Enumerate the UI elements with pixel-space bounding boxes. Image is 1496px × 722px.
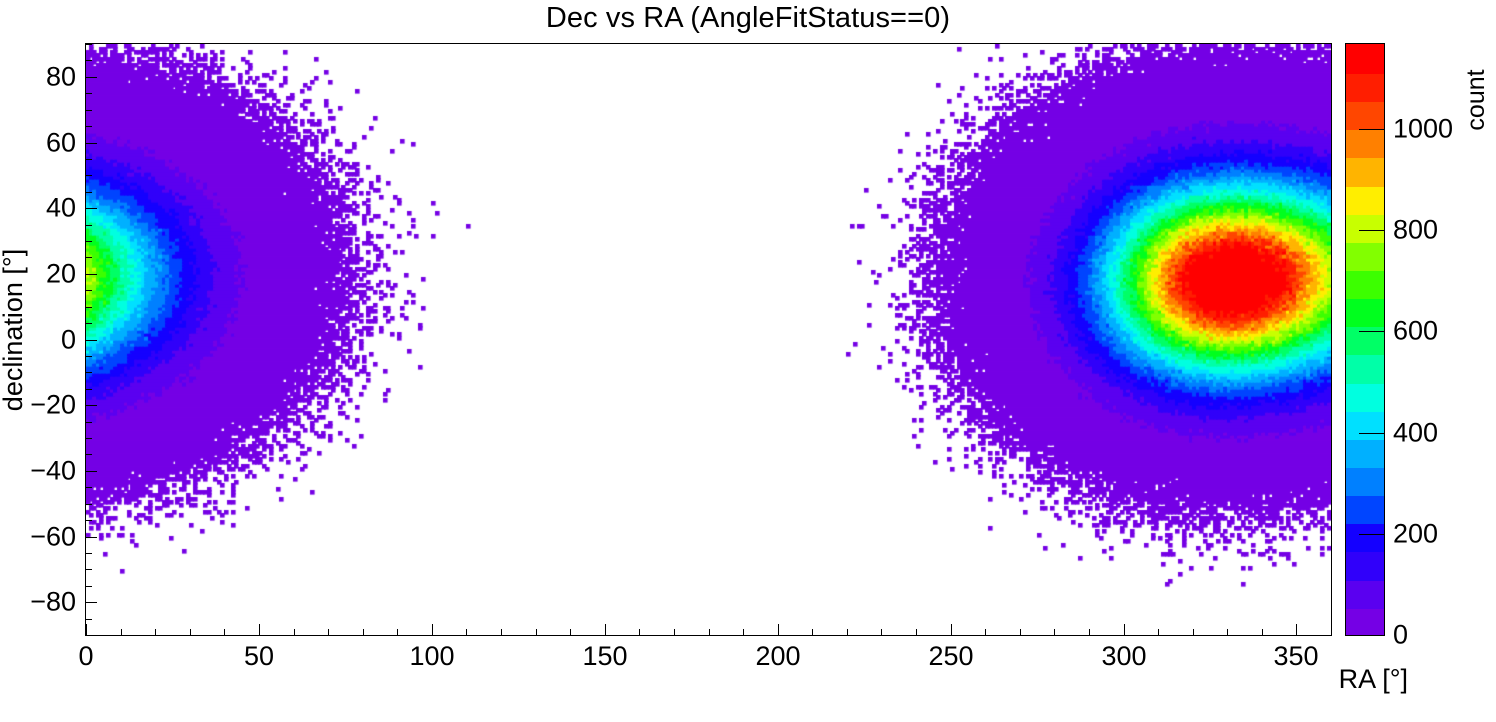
x-tick-major [605,624,606,635]
y-tick-major [86,340,97,341]
x-tick-minor [881,629,882,635]
x-tick-label: 250 [928,641,973,672]
heatmap-canvas [86,44,1331,635]
y-tick-label: −80 [0,587,76,618]
y-tick-minor [86,257,92,258]
color-scale-band [1346,269,1384,299]
x-tick-major [86,624,87,635]
color-scale-band [1346,325,1384,355]
color-scale-band [1346,185,1384,215]
y-tick-minor [86,569,92,570]
x-tick-minor [328,629,329,635]
x-tick-major [778,624,779,635]
color-scale-tick [1359,129,1385,130]
y-tick-minor [86,192,92,193]
y-tick-minor [86,159,92,160]
y-tick-minor [86,323,92,324]
x-tick-major [432,624,433,635]
x-tick-minor [536,629,537,635]
x-tick-minor [1054,629,1055,635]
x-tick-minor [570,629,571,635]
x-tick-minor [224,629,225,635]
y-tick-label: 80 [0,62,76,93]
y-tick-minor [86,553,92,554]
y-tick-minor [86,356,92,357]
x-tick-minor [1227,629,1228,635]
y-tick-minor [86,110,92,111]
root-canvas: Dec vs RA (AngleFitStatus==0) 0501001502… [0,0,1496,722]
y-tick-minor [86,389,92,390]
x-tick-minor [639,629,640,635]
x-tick-minor [1193,629,1194,635]
y-tick-minor [86,241,92,242]
x-tick-label: 200 [755,641,800,672]
color-scale-band [1346,579,1384,609]
x-tick-label: 350 [1273,641,1318,672]
color-scale-bar [1345,43,1385,636]
x-tick-minor [397,629,398,635]
y-axis-title: declination [°] [0,249,29,411]
y-tick-major [86,143,97,144]
x-tick-minor [1262,629,1263,635]
color-scale-band [1346,522,1384,552]
x-tick-minor [812,629,813,635]
y-tick-minor [86,586,92,587]
color-scale-band [1346,213,1384,243]
x-tick-minor [743,629,744,635]
color-scale-band [1346,494,1384,524]
y-tick-minor [86,372,92,373]
x-tick-minor [916,629,917,635]
y-tick-minor [86,422,92,423]
color-scale-label: 1000 [1393,114,1453,145]
x-tick-major [951,624,952,635]
x-tick-minor [501,629,502,635]
y-tick-label: 40 [0,193,76,224]
y-tick-minor [86,126,92,127]
color-scale-label: 600 [1393,316,1438,347]
y-tick-minor [86,520,92,521]
x-tick-minor [121,629,122,635]
x-tick-label: 50 [244,641,274,672]
color-scale-label: 0 [1393,620,1408,651]
y-tick-minor [86,225,92,226]
color-scale-tick [1359,331,1385,332]
x-tick-label: 0 [78,641,93,672]
x-tick-label: 100 [409,641,454,672]
color-scale-band [1346,551,1384,581]
color-scale-label: 800 [1393,215,1438,246]
color-scale-band [1346,607,1384,636]
y-tick-minor [86,504,92,505]
color-scale-band [1346,241,1384,271]
color-scale-tick [1359,635,1385,636]
x-tick-minor [294,629,295,635]
y-tick-minor [86,44,92,45]
y-tick-major [86,471,97,472]
x-tick-major [259,624,260,635]
plot-frame [85,43,1332,636]
color-scale-tick [1359,230,1385,231]
x-tick-minor [155,629,156,635]
y-tick-minor [86,487,92,488]
color-scale-label: 400 [1393,418,1438,449]
color-scale-band [1346,438,1384,468]
y-tick-major [86,602,97,603]
color-scale-band [1346,466,1384,496]
y-tick-major [86,274,97,275]
x-tick-minor [847,629,848,635]
x-tick-label: 150 [582,641,627,672]
y-tick-minor [86,619,92,620]
x-tick-minor [1158,629,1159,635]
color-scale-band [1346,100,1384,130]
y-tick-minor [86,438,92,439]
color-scale-band [1346,410,1384,440]
y-tick-minor [86,60,92,61]
y-tick-minor [86,454,92,455]
y-tick-major [86,405,97,406]
x-tick-minor [985,629,986,635]
color-scale-title: count [1462,69,1491,130]
color-scale-tick [1359,534,1385,535]
page-title: Dec vs RA (AngleFitStatus==0) [0,2,1496,35]
color-scale-band [1346,157,1384,187]
y-tick-minor [86,290,92,291]
color-scale-band [1346,44,1384,74]
y-tick-major [86,208,97,209]
x-tick-minor [709,629,710,635]
x-tick-minor [1089,629,1090,635]
color-scale-tick [1359,433,1385,434]
x-tick-minor [1331,629,1332,635]
y-tick-minor [86,307,92,308]
x-tick-minor [190,629,191,635]
color-scale-band [1346,297,1384,327]
y-tick-minor [86,93,92,94]
y-tick-major [86,537,97,538]
x-axis-title: RA [°] [1339,664,1408,695]
y-tick-minor [86,175,92,176]
x-tick-major [1296,624,1297,635]
color-scale-band [1346,128,1384,158]
color-scale-band [1346,354,1384,384]
x-tick-label: 300 [1101,641,1146,672]
y-tick-major [86,77,97,78]
x-tick-minor [466,629,467,635]
x-tick-minor [363,629,364,635]
y-tick-label: −60 [0,522,76,553]
y-tick-minor [86,635,92,636]
x-tick-minor [674,629,675,635]
color-scale-band [1346,72,1384,102]
y-tick-label: −40 [0,456,76,487]
x-tick-minor [1020,629,1021,635]
x-tick-major [1124,624,1125,635]
color-scale-label: 200 [1393,519,1438,550]
y-tick-label: 60 [0,128,76,159]
color-scale-band [1346,382,1384,412]
